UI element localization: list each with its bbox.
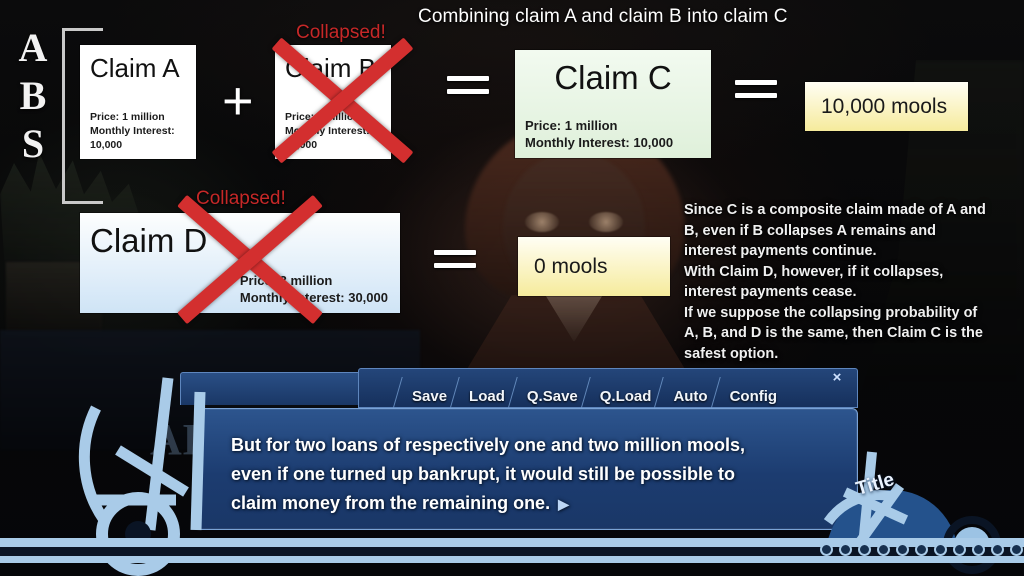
advance-arrow-icon[interactable]: ▶ bbox=[558, 490, 569, 519]
explanation-line: With Claim D, however, if it collapses, bbox=[684, 262, 1020, 283]
explanation-text: Since C is a composite claim made of A a… bbox=[684, 200, 1020, 364]
menu-item-qsave[interactable]: Q.Save bbox=[516, 367, 589, 410]
dialogue-text: But for two loans of respectively one an… bbox=[231, 431, 831, 519]
claim-c-meta: Price: 1 million Monthly Interest: 10,00… bbox=[525, 117, 673, 151]
explanation-line: safest option. bbox=[684, 344, 1020, 365]
claim-d-interest: Monthly Interest: 30,000 bbox=[240, 289, 388, 306]
claim-d-title: Claim D bbox=[90, 221, 390, 261]
claim-b-card: Claim B Price: 2 million Monthly Interes… bbox=[275, 45, 391, 159]
result-claim-c-value: 10,000 mools bbox=[805, 82, 968, 131]
game-menu-bar: Save Load Q.Save Q.Load Auto Config bbox=[358, 368, 858, 408]
abs-letter-b: B bbox=[16, 72, 50, 120]
close-icon[interactable]: × bbox=[828, 369, 846, 386]
dialogue-box[interactable]: But for two loans of respectively one an… bbox=[196, 408, 858, 530]
menu-item-save[interactable]: Save bbox=[401, 367, 458, 410]
dialogue-line: even if one turned up bankrupt, it would… bbox=[231, 460, 831, 489]
claim-b-title: Claim B bbox=[285, 53, 381, 83]
result-claim-d-value: 0 mools bbox=[518, 237, 670, 296]
claim-d-meta: Price: 3 million Monthly Interest: 30,00… bbox=[240, 272, 388, 306]
claim-d-price: Price: 3 million bbox=[240, 272, 388, 289]
claim-a-card: Claim A Price: 1 million Monthly Interes… bbox=[80, 45, 196, 159]
claim-b-price: Price: 2 million bbox=[285, 110, 391, 124]
equals-operator-1 bbox=[447, 76, 489, 94]
explanation-line: If we suppose the collapsing probability… bbox=[684, 303, 1020, 324]
explanation-line: interest payments continue. bbox=[684, 241, 1020, 262]
plus-operator: + bbox=[222, 74, 254, 128]
diagram-title: Combining claim A and claim B into claim… bbox=[418, 6, 788, 28]
claim-d-collapsed-label: Collapsed! bbox=[196, 188, 286, 210]
game-menu-items: Save Load Q.Save Q.Load Auto Config bbox=[359, 369, 857, 407]
menu-item-auto[interactable]: Auto bbox=[662, 367, 718, 410]
explanation-line: A, B, and D is the same, then Claim C is… bbox=[684, 323, 1020, 344]
claim-a-title: Claim A bbox=[90, 53, 186, 83]
claim-b-meta: Price: 2 million Monthly Interest: 20,00… bbox=[285, 110, 391, 152]
menu-item-load[interactable]: Load bbox=[458, 367, 516, 410]
equals-operator-3 bbox=[434, 250, 476, 268]
abs-letter-s: S bbox=[16, 120, 50, 168]
claim-c-interest: Monthly Interest: 10,000 bbox=[525, 134, 673, 151]
menu-item-qload[interactable]: Q.Load bbox=[589, 367, 663, 410]
claim-a-interest: Monthly Interest: 10,000 bbox=[90, 124, 196, 152]
dialogue-line-last: claim money from the remaining one.▶ bbox=[231, 489, 831, 519]
dialogue-line: But for two loans of respectively one an… bbox=[231, 431, 831, 460]
claim-a-meta: Price: 1 million Monthly Interest: 10,00… bbox=[90, 110, 196, 152]
visual-novel-screen: A B S Combining claim A and claim B into… bbox=[0, 0, 1024, 576]
character-eye-left bbox=[525, 212, 559, 232]
claim-b-interest: Monthly Interest: 20,000 bbox=[285, 124, 391, 152]
explanation-line: Since C is a composite claim made of A a… bbox=[684, 200, 1020, 221]
explanation-line: interest payments cease. bbox=[684, 282, 1020, 303]
character-eye-right bbox=[589, 212, 623, 232]
dialogue-line: claim money from the remaining one. bbox=[231, 493, 550, 513]
namebox-tab bbox=[180, 372, 372, 405]
claim-a-price: Price: 1 million bbox=[90, 110, 196, 124]
equals-operator-2 bbox=[735, 80, 777, 98]
bottom-dot-strip bbox=[820, 543, 1023, 556]
claim-c-title: Claim C bbox=[525, 58, 701, 98]
claim-c-card: Claim C Price: 1 million Monthly Interes… bbox=[515, 50, 711, 158]
claim-c-price: Price: 1 million bbox=[525, 117, 673, 134]
abs-group-label: A B S bbox=[16, 24, 50, 168]
menu-item-config[interactable]: Config bbox=[719, 367, 788, 410]
claim-d-card: Claim D Price: 3 million Monthly Interes… bbox=[80, 213, 400, 313]
claim-b-collapsed-label: Collapsed! bbox=[296, 22, 386, 44]
explanation-line: B, even if B collapses A remains and bbox=[684, 221, 1020, 242]
abs-letter-a: A bbox=[16, 24, 50, 72]
